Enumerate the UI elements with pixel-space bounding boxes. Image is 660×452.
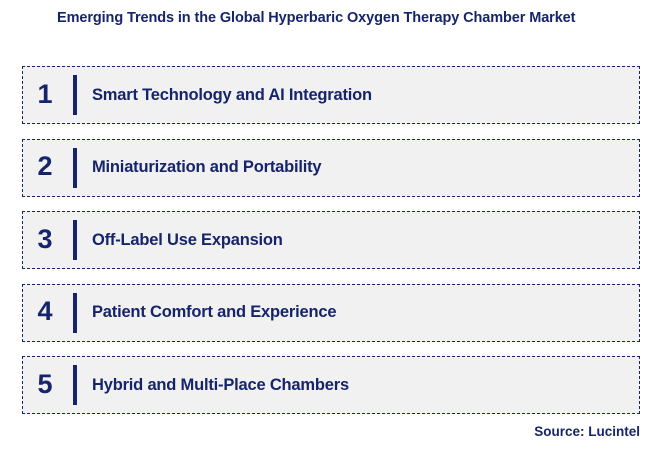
divider-bar (73, 148, 77, 188)
list-item[interactable]: 4 Patient Comfort and Experience (22, 284, 640, 342)
trend-label: Patient Comfort and Experience (92, 303, 336, 322)
divider-bar (73, 220, 77, 260)
trend-label: Off-Label Use Expansion (92, 231, 283, 250)
trend-number: 3 (23, 226, 67, 255)
trend-label: Hybrid and Multi-Place Chambers (92, 376, 349, 395)
trend-number: 1 (23, 81, 67, 110)
trend-list: 1 Smart Technology and AI Integration 2 … (22, 66, 640, 429)
infographic-page: Emerging Trends in the Global Hyperbaric… (0, 0, 660, 452)
trend-number: 5 (23, 371, 67, 400)
divider-bar (73, 75, 77, 115)
trend-label: Smart Technology and AI Integration (92, 86, 372, 105)
trend-label: Miniaturization and Portability (92, 158, 321, 177)
list-item[interactable]: 3 Off-Label Use Expansion (22, 211, 640, 269)
page-title: Emerging Trends in the Global Hyperbaric… (57, 10, 643, 26)
trend-number: 4 (23, 298, 67, 327)
divider-bar (73, 293, 77, 333)
list-item[interactable]: 5 Hybrid and Multi-Place Chambers (22, 356, 640, 414)
trend-number: 2 (23, 153, 67, 182)
list-item[interactable]: 1 Smart Technology and AI Integration (22, 66, 640, 124)
source-credit: Source: Lucintel (534, 424, 640, 439)
divider-bar (73, 365, 77, 405)
list-item[interactable]: 2 Miniaturization and Portability (22, 139, 640, 197)
